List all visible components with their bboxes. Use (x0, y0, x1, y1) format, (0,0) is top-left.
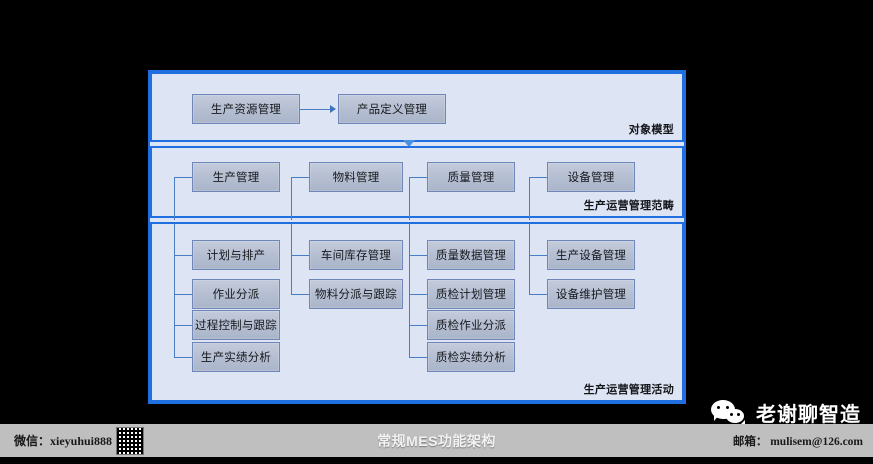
node-inspection-job-dispatching[interactable]: 质检作业分派 (427, 310, 515, 340)
branch-material-2 (291, 294, 309, 295)
node-product-definition-management[interactable]: 产品定义管理 (338, 94, 446, 124)
node-job-dispatching[interactable]: 作业分派 (192, 279, 280, 309)
stub-production (174, 177, 192, 178)
mes-architecture-diagram: 生产资源管理 产品定义管理 对象模型 生产管理 物料管理 质量管理 设备管理 生… (148, 70, 686, 404)
node-equipment-maintenance-management[interactable]: 设备维护管理 (547, 279, 635, 309)
node-process-control-and-tracking[interactable]: 过程控制与跟踪 (192, 310, 280, 340)
email-label: 邮箱： mulisem@126.com (733, 433, 863, 449)
footer-right-group: 邮箱： mulisem@126.com (733, 433, 863, 449)
brand-block: 老谢聊智造 (711, 398, 861, 427)
arrow-right-icon (330, 105, 336, 113)
node-inspection-plan-management[interactable]: 质检计划管理 (427, 279, 515, 309)
node-production-equipment-management[interactable]: 生产设备管理 (547, 240, 635, 270)
band-label-object-model: 对象模型 (629, 121, 674, 137)
spine-material (291, 224, 292, 294)
drop-equipment (529, 177, 530, 220)
wechat-logo-icon (711, 400, 749, 426)
branch-equipment-2 (529, 294, 547, 295)
spine-equipment (529, 224, 530, 294)
node-planning-and-scheduling[interactable]: 计划与排产 (192, 240, 280, 270)
branch-material-1 (291, 255, 309, 256)
branch-production-1 (174, 255, 192, 256)
band-label-operations-activities: 生产运营管理活动 (584, 381, 674, 397)
drop-quality (409, 177, 410, 220)
band-operations-scope: 生产管理 物料管理 质量管理 设备管理 生产运营管理范畴 (150, 146, 684, 218)
branch-quality-1 (409, 255, 427, 256)
node-inspection-performance-analysis[interactable]: 质检实绩分析 (427, 342, 515, 372)
spine-quality (409, 224, 410, 357)
stub-quality (409, 177, 427, 178)
branch-production-3 (174, 325, 192, 326)
node-production-resource-management[interactable]: 生产资源管理 (192, 94, 300, 124)
node-material-dispatch-and-tracking[interactable]: 物料分派与跟踪 (309, 279, 403, 309)
connector-resource-to-product (300, 109, 330, 110)
drop-production (174, 177, 175, 220)
node-material-management[interactable]: 物料管理 (309, 162, 403, 192)
band-label-operations-scope: 生产运营管理范畴 (584, 197, 674, 213)
branch-quality-3 (409, 325, 427, 326)
band-operations-activities: 计划与排产 作业分派 过程控制与跟踪 生产实绩分析 车间库存管理 物料分派与跟踪… (150, 222, 684, 402)
screenshot-root: 生产资源管理 产品定义管理 对象模型 生产管理 物料管理 质量管理 设备管理 生… (0, 0, 873, 464)
branch-production-4 (174, 357, 192, 358)
band-object-model: 生产资源管理 产品定义管理 对象模型 (150, 72, 684, 142)
branch-production-2 (174, 294, 192, 295)
node-quality-data-management[interactable]: 质量数据管理 (427, 240, 515, 270)
node-equipment-management[interactable]: 设备管理 (547, 162, 635, 192)
drop-material (291, 177, 292, 220)
branch-equipment-1 (529, 255, 547, 256)
branch-quality-4 (409, 357, 427, 358)
branch-quality-2 (409, 294, 427, 295)
node-quality-management[interactable]: 质量管理 (427, 162, 515, 192)
node-production-management[interactable]: 生产管理 (192, 162, 280, 192)
brand-name: 老谢聊智造 (756, 398, 861, 427)
footer-bar: 微信：xieyuhui888 常规MES功能架构 邮箱： mulisem@126… (0, 424, 873, 457)
node-production-performance-analysis[interactable]: 生产实绩分析 (192, 342, 280, 372)
stub-equipment (529, 177, 547, 178)
stub-material (291, 177, 309, 178)
node-shopfloor-inventory-management[interactable]: 车间库存管理 (309, 240, 403, 270)
spine-production (174, 224, 175, 357)
